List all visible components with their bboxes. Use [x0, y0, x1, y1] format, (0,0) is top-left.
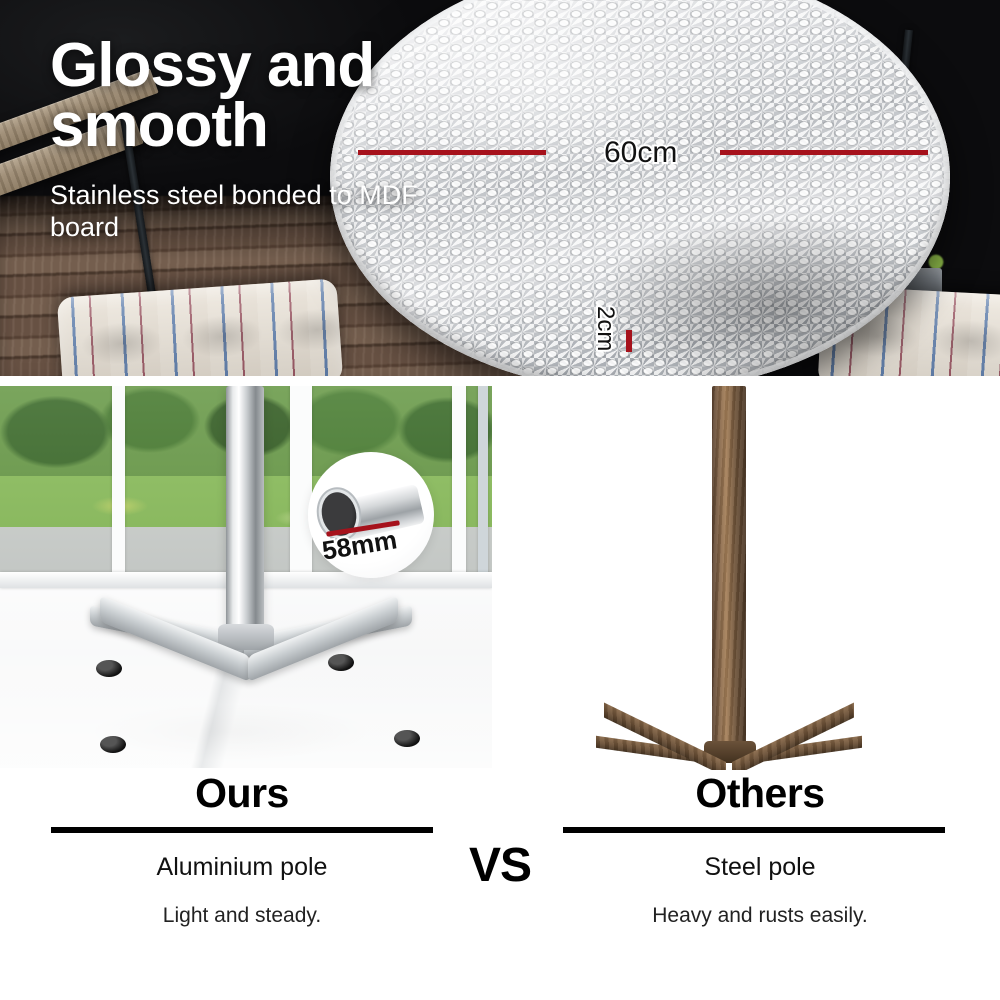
column-title-ours: Ours [22, 770, 462, 817]
column-divider-ours [51, 827, 433, 833]
hero-headline: Glossy and smooth [50, 36, 470, 156]
column-title-others: Others [540, 770, 980, 817]
column-divider-others [563, 827, 945, 833]
thickness-tick [626, 330, 632, 352]
aluminium-pole [226, 386, 264, 632]
product-infographic: 60cm 2cm Glossy and smooth Stainless ste… [0, 0, 1000, 1000]
rusty-steel-pole [712, 386, 746, 758]
window-mullion-1 [112, 386, 125, 582]
aluminium-base-photo [0, 386, 492, 768]
steel-base-photo [500, 386, 1000, 768]
hero-subtitle: Stainless steel bonded to MDF board [50, 180, 450, 244]
column-description-others: Heavy and rusts easily. [540, 904, 980, 928]
diameter-label: 60cm [604, 136, 677, 170]
window-mullion-3 [452, 386, 466, 582]
base-foot-back-right [328, 654, 354, 671]
ours-vs-others-section: Ours Aluminium pole Light and steady. Ot… [0, 770, 1000, 1000]
diameter-line-right [720, 150, 928, 155]
vs-label: VS [0, 838, 1000, 893]
comparison-photo-row [0, 386, 1000, 770]
pole-diameter-callout: 58mm [308, 452, 434, 578]
base-foot-front-left [100, 736, 126, 753]
base-foot-back-left [96, 660, 122, 677]
base-foot-front-right [394, 730, 420, 747]
thickness-label: 2cm [591, 306, 619, 351]
column-description-ours: Light and steady. [22, 904, 462, 928]
window-mullion-4 [478, 386, 488, 582]
window-mullion-2 [290, 386, 312, 582]
hero-photo-panel: 60cm 2cm Glossy and smooth Stainless ste… [0, 0, 1000, 376]
